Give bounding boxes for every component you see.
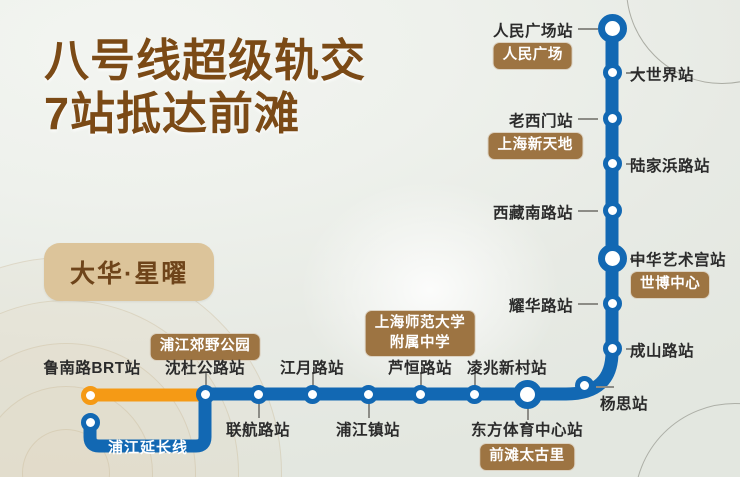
leader-tick bbox=[368, 402, 370, 418]
station-dot-pujiang-zhen[interactable] bbox=[359, 385, 378, 404]
poi-badge-qiantan-taikoo-li: 前滩太古里 bbox=[479, 443, 575, 471]
poi-badge-renmin-guangchang: 人民广场 bbox=[493, 42, 573, 70]
station-label-xizang-nan-lu: 西藏南路站 bbox=[493, 201, 573, 223]
station-dot-shendu-gonglu[interactable] bbox=[196, 385, 215, 404]
station-dot-renmin-guangchang[interactable] bbox=[598, 14, 627, 43]
station-dot-branch-terminus[interactable] bbox=[81, 413, 100, 432]
station-label-zhonghua-yishugong: 中华艺术宫站 bbox=[630, 248, 726, 270]
station-dot-lunan-lu-brt[interactable] bbox=[81, 386, 100, 405]
station-label-chengshan-lu: 成山路站 bbox=[630, 339, 694, 361]
station-label-lianhang-lu: 联航路站 bbox=[226, 418, 290, 440]
station-dot-dongfang-tiyu-zhongxin[interactable] bbox=[513, 380, 542, 409]
station-label-shendu-gonglu: 沈杜公路站 bbox=[165, 356, 245, 378]
station-dot-xizang-nan-lu[interactable] bbox=[603, 201, 622, 220]
station-label-lingzhao-xincun: 凌兆新村站 bbox=[467, 356, 547, 378]
leader-tick bbox=[596, 386, 614, 388]
station-dot-yangsi[interactable] bbox=[575, 376, 594, 395]
poi-badge-shibo-zhongxin: 世博中心 bbox=[630, 271, 710, 299]
station-dot-yaohua-lu[interactable] bbox=[603, 294, 622, 313]
station-label-lunan-lu-brt: 鲁南路BRT站 bbox=[43, 356, 140, 378]
leader-tick bbox=[578, 210, 598, 212]
station-dot-zhonghua-yishugong[interactable] bbox=[598, 244, 627, 273]
station-dot-laoximen[interactable] bbox=[603, 109, 622, 128]
leader-tick bbox=[578, 303, 598, 305]
station-label-laoximen: 老西门站 bbox=[509, 109, 573, 131]
station-dot-lingzhao-xincun[interactable] bbox=[465, 385, 484, 404]
station-label-jiangyue-lu: 江月路站 bbox=[280, 356, 344, 378]
poi-badge-line-2: 附属中学 bbox=[390, 335, 450, 351]
station-label-dashijie: 大世界站 bbox=[630, 63, 694, 85]
station-label-luheng-lu: 芦恒路站 bbox=[388, 356, 452, 378]
poi-badge-shanghai-xintiandi: 上海新天地 bbox=[488, 132, 584, 160]
branch-line-label: 浦江延长线 bbox=[108, 437, 188, 458]
station-label-yaohua-lu: 耀华路站 bbox=[509, 294, 573, 316]
poi-badge-shanghai-shifan-daxue: 上海师范大学 附属中学 bbox=[365, 310, 476, 357]
station-dot-dashijie[interactable] bbox=[603, 63, 622, 82]
station-label-renmin-guangchang: 人民广场站 bbox=[493, 19, 573, 41]
transit-map-poster: 八号线超级轨交 7站抵达前滩 大华·星曜 浦江延长线 bbox=[0, 0, 740, 477]
station-label-dongfang-tiyu-zhongxin: 东方体育中心站 bbox=[471, 418, 583, 440]
leader-tick bbox=[578, 118, 598, 120]
station-dot-lujiabang-lu[interactable] bbox=[603, 154, 622, 173]
station-label-yangsi: 杨思站 bbox=[600, 392, 648, 414]
station-dot-chengshan-lu[interactable] bbox=[603, 339, 622, 358]
station-dot-lianhang-lu[interactable] bbox=[249, 385, 268, 404]
station-dot-jiangyue-lu[interactable] bbox=[303, 385, 322, 404]
station-label-pujiang-zhen: 浦江镇站 bbox=[336, 418, 400, 440]
poi-badge-line-1: 上海师范大学 bbox=[375, 315, 466, 331]
station-dot-luheng-lu[interactable] bbox=[411, 385, 430, 404]
station-label-lujiabang-lu: 陆家浜路站 bbox=[630, 154, 710, 176]
leader-tick bbox=[578, 28, 598, 30]
leader-tick bbox=[258, 402, 260, 418]
